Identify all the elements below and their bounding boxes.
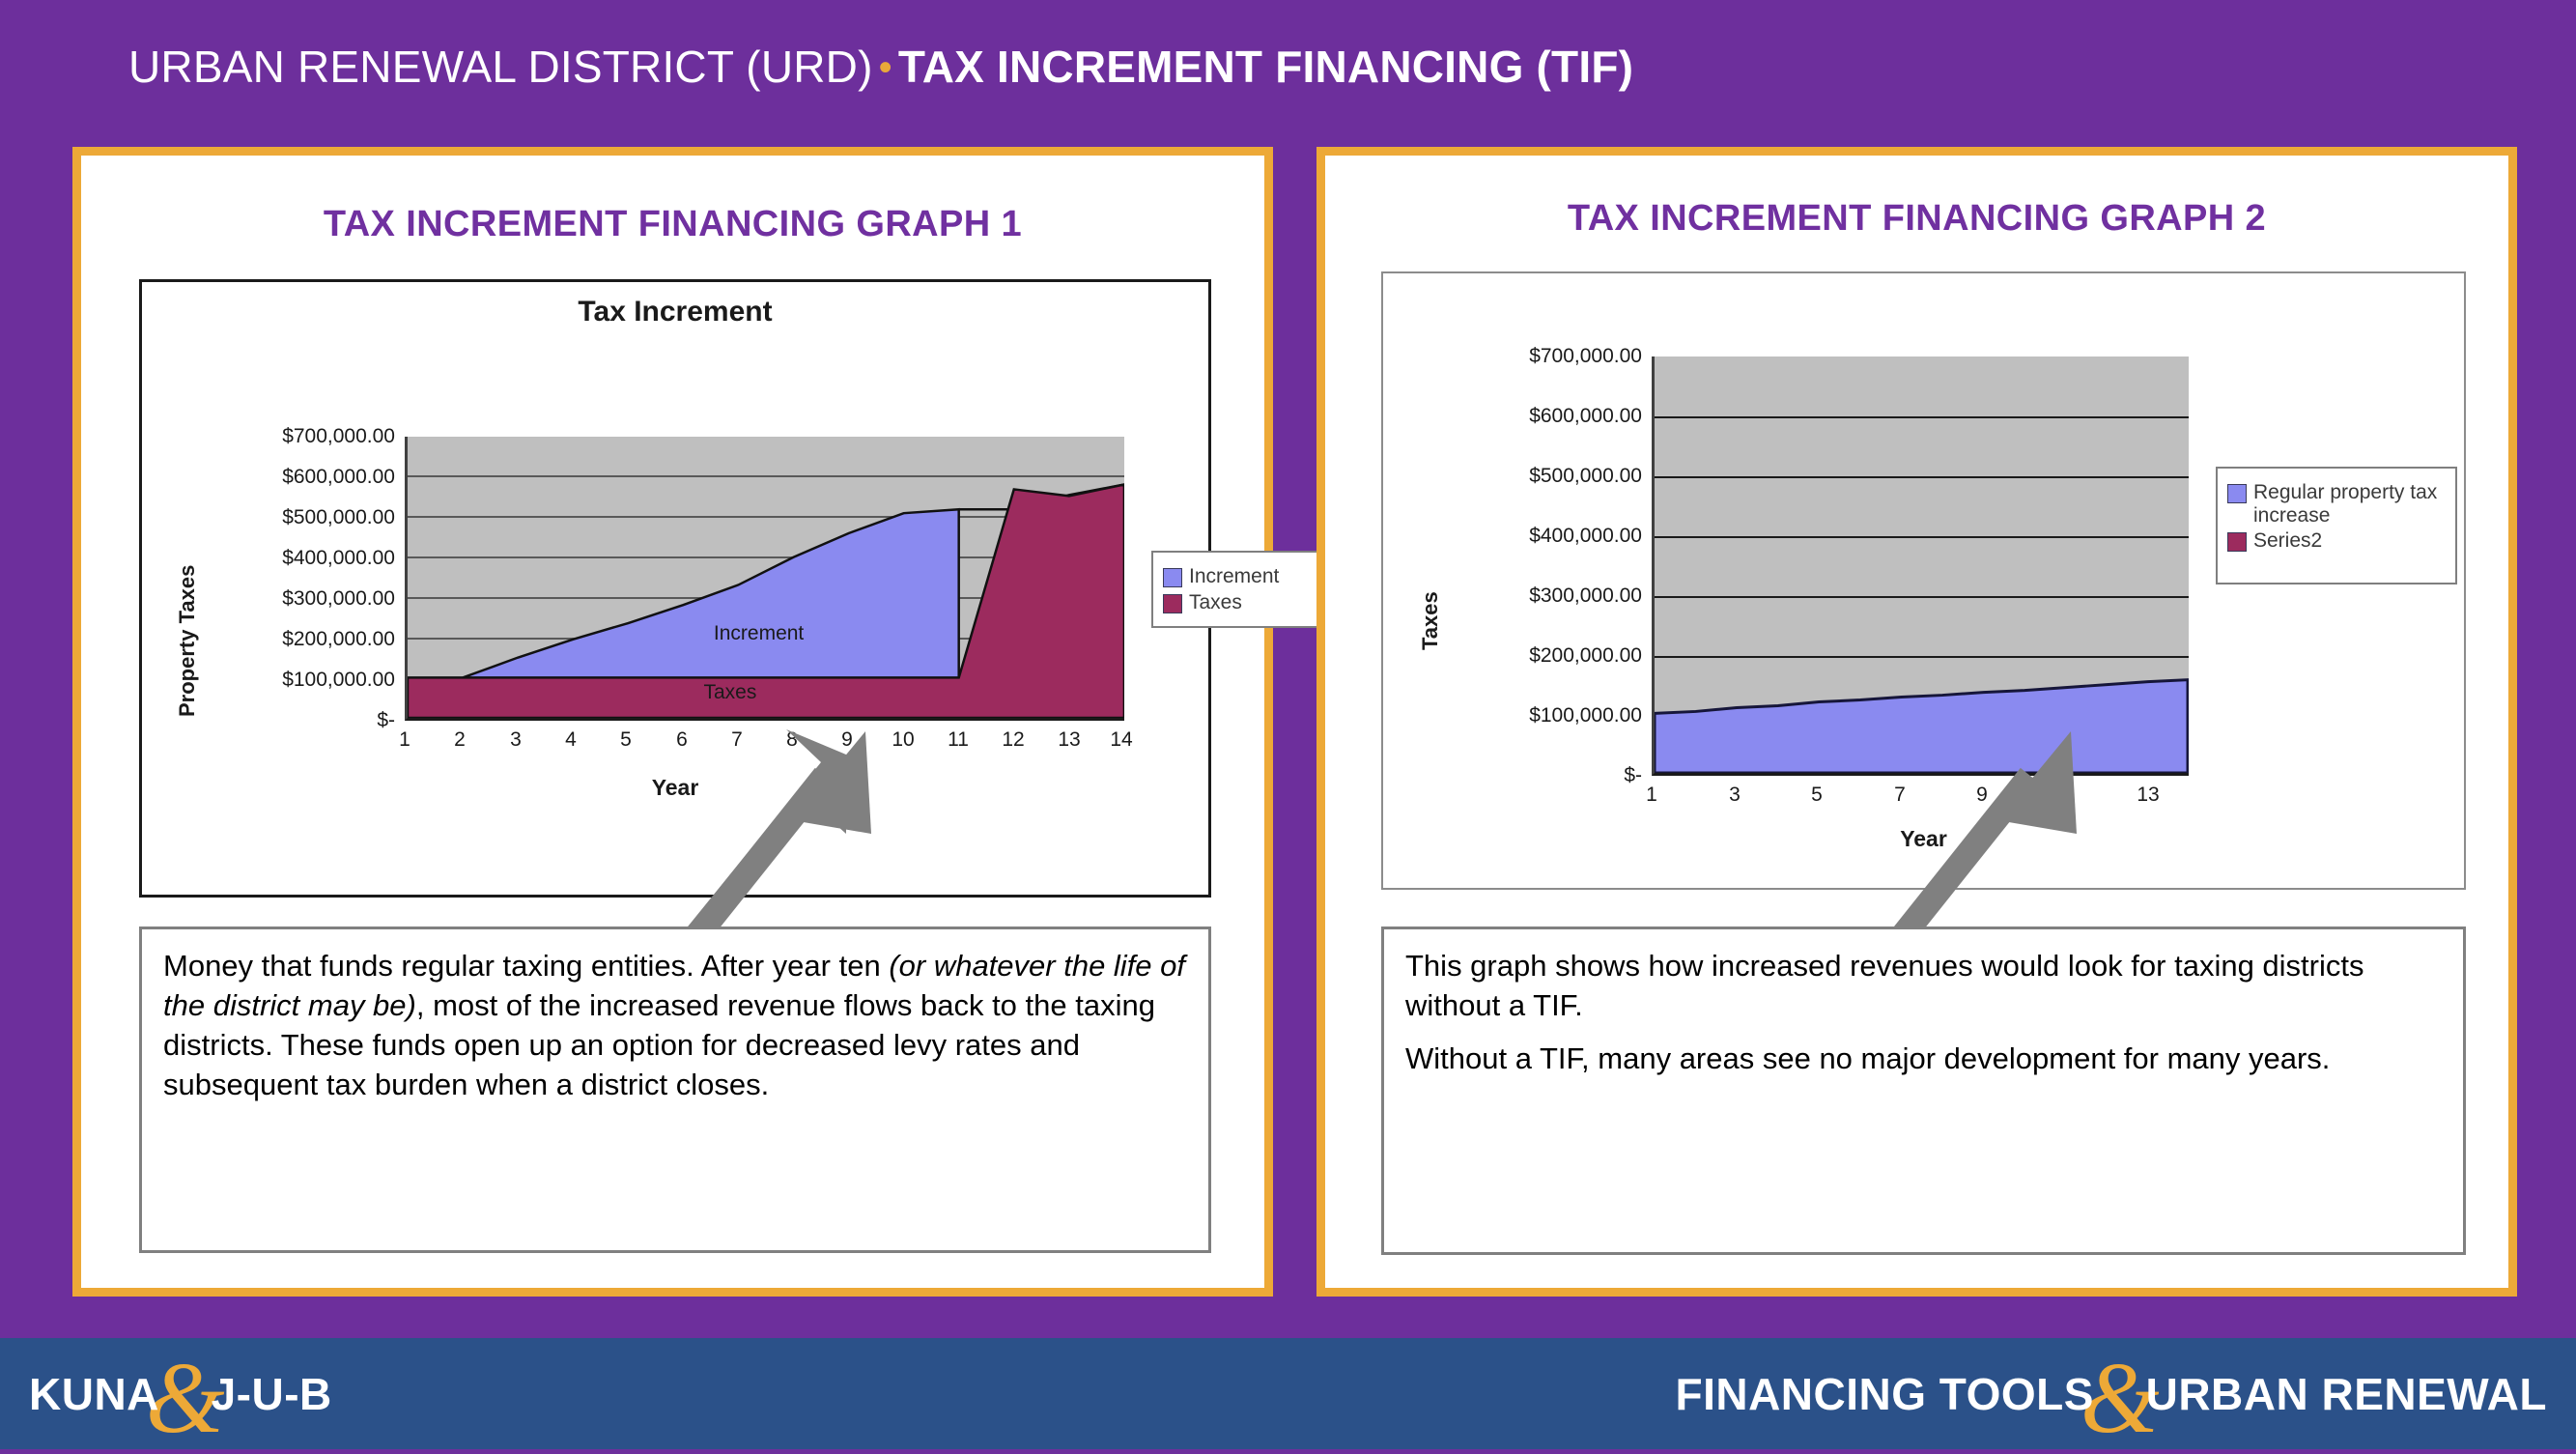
chart-graph-2: Taxes $700,000.00 $600,000.00 $500,000.0… bbox=[1381, 271, 2466, 890]
y-tick-label: $700,000.00 bbox=[1529, 345, 1642, 368]
footer-logo-kuna-jub: KUNA & J-U-B bbox=[29, 1338, 332, 1449]
legend-swatch-series2-icon bbox=[2227, 532, 2247, 552]
x-tick-label: 9 bbox=[1976, 784, 1988, 807]
y-tick-label: $500,000.00 bbox=[1529, 465, 1642, 488]
x-tick-label: 8 bbox=[786, 728, 798, 752]
x-tick-label: 1 bbox=[1646, 784, 1657, 807]
x-tick-label: 13 bbox=[2137, 784, 2159, 807]
legend-swatch-taxes-icon bbox=[1163, 594, 1182, 613]
chart-2-plot-area bbox=[1652, 356, 2189, 776]
chart-2-series-paths bbox=[1655, 356, 2189, 773]
y-tick-label: $- bbox=[377, 709, 395, 732]
legend-label: Series2 bbox=[2253, 529, 2322, 553]
chart-1-y-ticks: $700,000.00 $600,000.00 $500,000.00 $400… bbox=[186, 282, 395, 900]
callout-right: This graph shows how increased revenues … bbox=[1381, 927, 2466, 1255]
footer-left-word2: J-U-B bbox=[212, 1368, 332, 1420]
chart-2-legend: Regular property tax increase Series2 bbox=[2216, 467, 2457, 584]
panel-graph-1: TAX INCREMENT FINANCING GRAPH 1 Tax Incr… bbox=[72, 147, 1273, 1297]
x-tick-label: 5 bbox=[620, 728, 632, 752]
footer-left-word1: KUNA bbox=[29, 1368, 159, 1420]
footer-right-word1: FINANCING TOOLS bbox=[1675, 1368, 2093, 1420]
panel-graph-2: TAX INCREMENT FINANCING GRAPH 2 Taxes $7… bbox=[1316, 147, 2517, 1297]
page-title: URBAN RENEWAL DISTRICT (URD)•TAX INCREME… bbox=[128, 41, 1633, 93]
panel-left-title: TAX INCREMENT FINANCING GRAPH 1 bbox=[81, 204, 1264, 245]
legend-label: Increment bbox=[1189, 565, 1279, 588]
x-tick-label: 9 bbox=[841, 728, 853, 752]
x-tick-label: 2 bbox=[454, 728, 466, 752]
header-title-part2: TAX INCREMENT FINANCING (TIF) bbox=[898, 42, 1633, 92]
x-tick-label: 5 bbox=[1811, 784, 1823, 807]
chart-graph-1: Tax Increment Property Taxes $700,000.00… bbox=[139, 279, 1211, 898]
callout-left-part-a: Money that funds regular taxing entities… bbox=[163, 949, 889, 983]
legend-item: Regular property tax increase bbox=[2227, 481, 2446, 527]
legend-item: Series2 bbox=[2227, 529, 2446, 553]
x-tick-label: 11 bbox=[2054, 784, 2076, 807]
footer-right-word2: URBAN RENEWAL bbox=[2146, 1368, 2547, 1420]
footer-tagline: FINANCING TOOLS & URBAN RENEWAL bbox=[1675, 1338, 2547, 1449]
chart-1-taxes-label: Taxes bbox=[703, 681, 756, 704]
y-tick-label: $100,000.00 bbox=[1529, 704, 1642, 727]
increment-area bbox=[408, 509, 959, 677]
legend-item: Taxes bbox=[1163, 591, 1314, 614]
x-tick-label: 3 bbox=[1729, 784, 1741, 807]
chart-2-x-ticks: 1 3 5 7 9 11 13 bbox=[1652, 784, 2189, 816]
legend-label: Regular property tax increase bbox=[2253, 481, 2446, 527]
slide-header: URBAN RENEWAL DISTRICT (URD)•TAX INCREME… bbox=[0, 0, 2576, 147]
x-tick-label: 14 bbox=[1110, 728, 1132, 752]
chart-1-x-axis-title: Year bbox=[142, 775, 1208, 801]
panel-right-title: TAX INCREMENT FINANCING GRAPH 2 bbox=[1325, 198, 2508, 240]
callout-left-text: Money that funds regular taxing entities… bbox=[163, 947, 1187, 1105]
y-tick-label: $600,000.00 bbox=[282, 466, 395, 489]
slide-footer: KUNA & J-U-B FINANCING TOOLS & URBAN REN… bbox=[0, 1338, 2576, 1449]
x-tick-label: 4 bbox=[565, 728, 577, 752]
x-tick-label: 13 bbox=[1058, 728, 1080, 752]
x-tick-label: 10 bbox=[892, 728, 914, 752]
chart-1-legend: Increment Taxes bbox=[1151, 551, 1325, 628]
legend-label: Taxes bbox=[1189, 591, 1242, 614]
chart-1-series-paths bbox=[408, 437, 1124, 718]
y-tick-label: $100,000.00 bbox=[282, 669, 395, 692]
y-tick-label: $700,000.00 bbox=[282, 425, 395, 448]
callout-left: Money that funds regular taxing entities… bbox=[139, 927, 1211, 1253]
x-tick-label: 3 bbox=[510, 728, 522, 752]
chart-1-increment-label: Increment bbox=[714, 622, 804, 645]
chart-2-x-axis-title: Year bbox=[1383, 826, 2464, 852]
legend-swatch-regular-property-tax-increase-icon bbox=[2227, 484, 2247, 503]
chart-2-y-ticks: $700,000.00 $600,000.00 $500,000.00 $400… bbox=[1431, 273, 1642, 892]
callout-right-paragraph-2: Without a TIF, many areas see no major d… bbox=[1405, 1040, 2442, 1079]
regular-property-tax-increase-area bbox=[1655, 680, 2188, 773]
legend-item: Increment bbox=[1163, 565, 1314, 588]
y-tick-label: $400,000.00 bbox=[1529, 525, 1642, 548]
y-tick-label: $- bbox=[1624, 764, 1642, 787]
x-tick-label: 12 bbox=[1002, 728, 1024, 752]
y-tick-label: $600,000.00 bbox=[1529, 405, 1642, 428]
header-title-part1: URBAN RENEWAL DISTRICT (URD) bbox=[128, 42, 873, 92]
bullet-separator-icon: • bbox=[873, 46, 898, 89]
y-tick-label: $200,000.00 bbox=[1529, 644, 1642, 668]
y-tick-label: $200,000.00 bbox=[282, 628, 395, 651]
x-tick-label: 7 bbox=[731, 728, 743, 752]
y-tick-label: $400,000.00 bbox=[282, 547, 395, 570]
legend-swatch-increment-icon bbox=[1163, 568, 1182, 587]
x-tick-label: 1 bbox=[399, 728, 410, 752]
callout-right-paragraph-1: This graph shows how increased revenues … bbox=[1405, 947, 2442, 1026]
chart-1-x-ticks: 1 2 3 4 5 6 7 8 9 10 11 12 13 14 bbox=[405, 728, 1124, 761]
x-tick-label: 11 bbox=[948, 728, 969, 752]
y-tick-label: $300,000.00 bbox=[282, 587, 395, 611]
chart-1-plot-area: Increment Taxes bbox=[405, 437, 1124, 721]
y-tick-label: $300,000.00 bbox=[1529, 584, 1642, 608]
y-tick-label: $500,000.00 bbox=[282, 506, 395, 529]
x-tick-label: 6 bbox=[676, 728, 688, 752]
x-tick-label: 7 bbox=[1894, 784, 1906, 807]
